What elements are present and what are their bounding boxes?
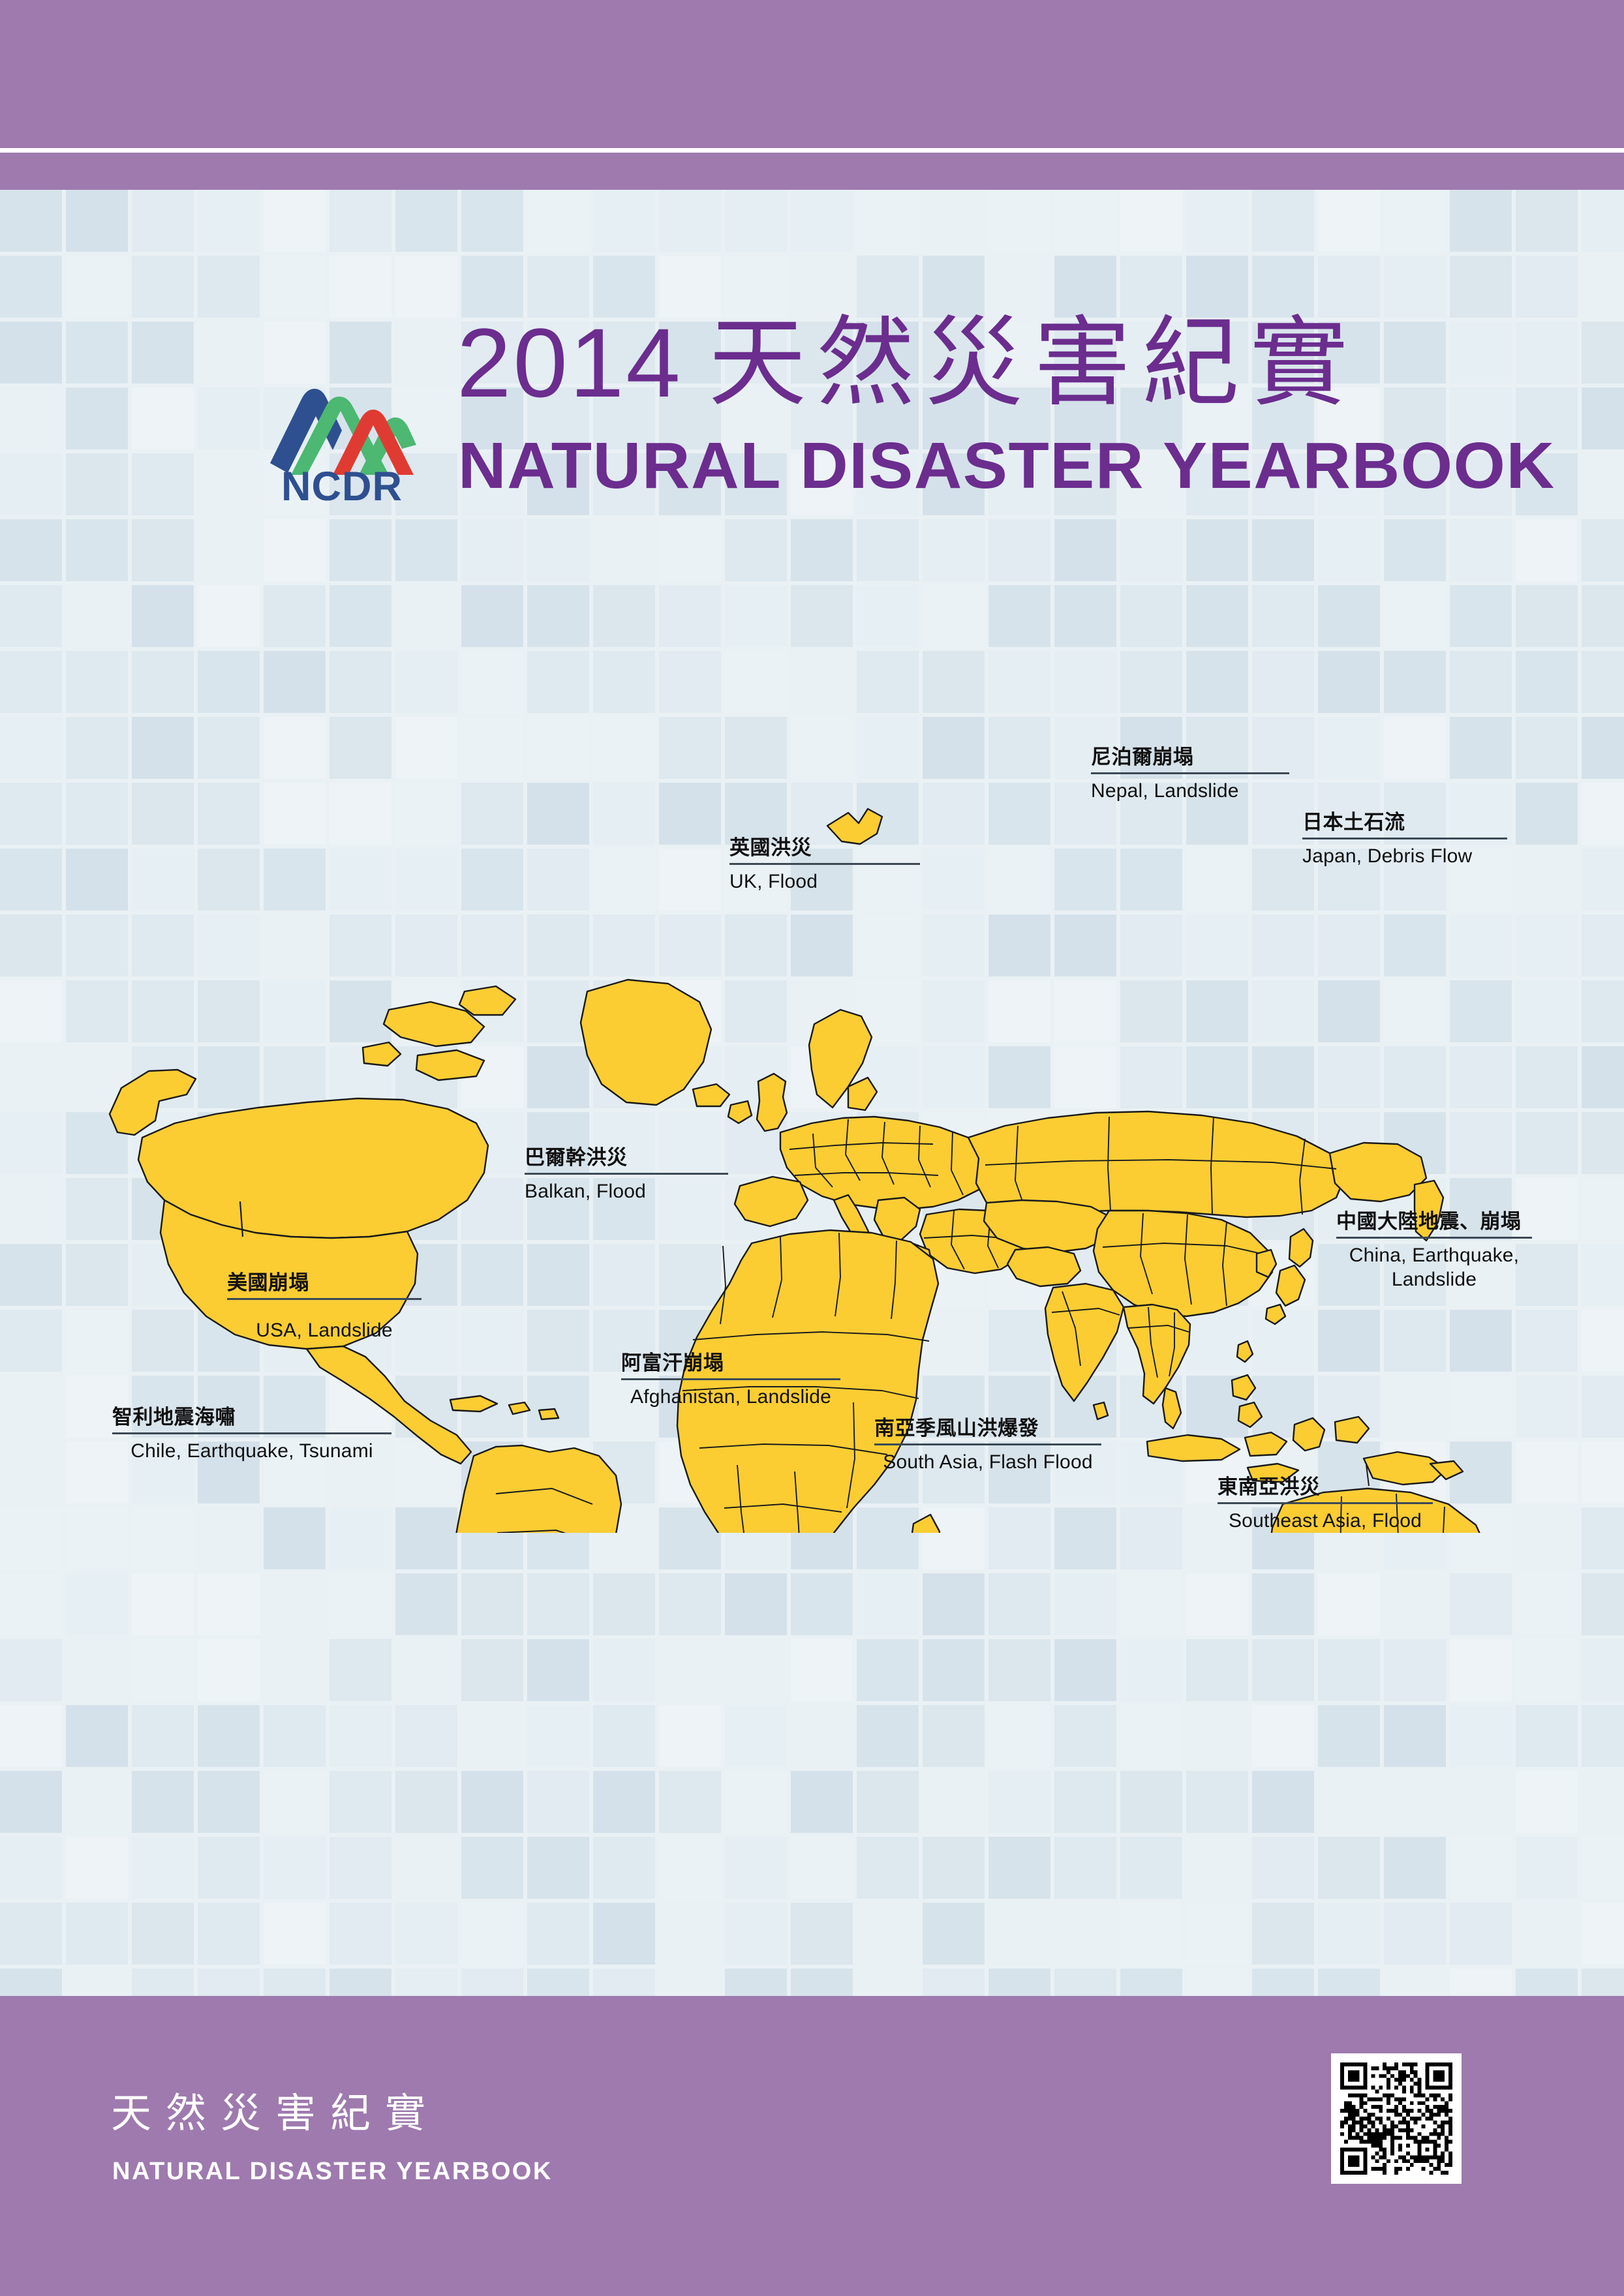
background-tile xyxy=(132,1903,194,1965)
background-tile xyxy=(593,1837,655,1899)
background-tile xyxy=(66,1573,128,1635)
background-tile xyxy=(1120,1903,1182,1965)
background-tile xyxy=(1120,1705,1182,1767)
background-tile xyxy=(264,585,326,647)
background-tile xyxy=(1582,1969,1624,1996)
background-tile xyxy=(1582,519,1624,581)
background-tile xyxy=(791,1969,853,1996)
background-tile xyxy=(593,1969,655,1996)
background-tile xyxy=(1582,453,1624,515)
background-tile xyxy=(923,1969,985,1996)
background-tile xyxy=(659,1903,721,1965)
background-tile xyxy=(527,1969,589,1996)
cover-title-english: NATURAL DISASTER YEARBOOK xyxy=(458,433,1555,498)
background-tile xyxy=(132,1969,194,1996)
background-tile xyxy=(0,1969,62,1996)
background-tile xyxy=(1120,1969,1182,1996)
callout-south-asia-cn: 南亞季風山洪爆發 xyxy=(874,1417,1101,1440)
callout-chile-cn: 智利地震海嘯 xyxy=(112,1406,391,1429)
background-tile xyxy=(198,387,260,449)
background-tile xyxy=(329,1771,391,1833)
background-tile xyxy=(1384,1705,1446,1767)
callout-south-asia-en: South Asia, Flash Flood xyxy=(874,1450,1101,1475)
background-tile xyxy=(988,519,1050,581)
background-tile xyxy=(1252,1573,1314,1635)
callout-china-en-line2: Landslide xyxy=(1336,1267,1532,1292)
background-tile xyxy=(66,1969,128,1996)
footer-title-english: NATURAL DISASTER YEARBOOK xyxy=(112,2159,553,2184)
background-tile xyxy=(1516,322,1578,384)
background-tile xyxy=(395,190,457,252)
background-tile xyxy=(395,1969,457,1996)
background-tile xyxy=(0,1837,62,1899)
background-tile xyxy=(1516,1837,1578,1899)
callout-chile-en: Chile, Earthquake, Tsunami xyxy=(112,1439,391,1464)
background-tile xyxy=(527,1573,589,1635)
background-tile xyxy=(461,1705,523,1767)
background-tile xyxy=(0,190,62,252)
background-tile xyxy=(1450,1837,1512,1899)
background-tile xyxy=(1318,1969,1380,1996)
background-tile xyxy=(329,519,391,581)
background-tile xyxy=(66,256,128,318)
background-tile xyxy=(1054,1771,1116,1833)
background-tile xyxy=(0,519,62,581)
background-tile xyxy=(1582,585,1624,647)
background-tile xyxy=(659,585,721,647)
background-tile xyxy=(1582,1639,1624,1701)
background-tile xyxy=(1186,1969,1248,1996)
background-tile xyxy=(791,1573,853,1635)
background-tile xyxy=(659,1771,721,1833)
background-tile xyxy=(264,519,326,581)
background-tile xyxy=(66,519,128,581)
background-tile xyxy=(1450,256,1512,318)
background-tile xyxy=(395,1771,457,1833)
background-tile xyxy=(593,1903,655,1965)
background-tile xyxy=(264,1837,326,1899)
background-tile xyxy=(1120,1837,1182,1899)
callout-uk-en: UK, Flood xyxy=(729,869,920,894)
background-tile xyxy=(1384,190,1446,252)
background-tile xyxy=(1318,1903,1380,1965)
callout-usa-rule xyxy=(227,1298,421,1300)
background-tile xyxy=(1384,1771,1446,1833)
background-tile xyxy=(1054,1903,1116,1965)
background-tile xyxy=(1516,519,1578,581)
callout-china-rule xyxy=(1336,1237,1532,1239)
callout-nepal-rule xyxy=(1091,772,1289,774)
background-tile xyxy=(1516,1771,1578,1833)
background-tile xyxy=(461,585,523,647)
background-tile xyxy=(1054,1837,1116,1899)
background-tile xyxy=(1450,1771,1512,1833)
background-tile xyxy=(66,322,128,384)
callout-afghanistan-en: Afghanistan, Landslide xyxy=(621,1385,840,1410)
background-tile xyxy=(527,1771,589,1833)
background-tile xyxy=(791,1705,853,1767)
callout-south-asia-rule xyxy=(874,1443,1101,1445)
background-tile xyxy=(461,519,523,581)
background-tile xyxy=(1582,387,1624,449)
callout-balkan-cn: 巴爾幹洪災 xyxy=(525,1146,728,1170)
background-tile xyxy=(659,519,721,581)
background-tile xyxy=(791,190,853,252)
background-tile xyxy=(0,1573,62,1635)
background-tile xyxy=(1582,322,1624,384)
callout-usa-en: USA, Landslide xyxy=(227,1318,421,1343)
background-tile xyxy=(923,519,985,581)
background-tile xyxy=(198,453,260,515)
background-tile xyxy=(659,1639,721,1701)
background-tile xyxy=(1252,190,1314,252)
background-tile xyxy=(1120,585,1182,647)
background-tile xyxy=(1120,1771,1182,1833)
background-tile xyxy=(461,1573,523,1635)
background-tile xyxy=(1450,1969,1512,1996)
background-tile xyxy=(132,322,194,384)
background-tile xyxy=(988,585,1050,647)
background-tile xyxy=(198,585,260,647)
background-tile xyxy=(132,585,194,647)
background-tile xyxy=(527,1903,589,1965)
background-tile xyxy=(198,1903,260,1965)
callout-japan: 日本土石流 Japan, Debris Flow xyxy=(1302,811,1507,868)
background-tile xyxy=(988,1903,1050,1965)
background-tile xyxy=(461,1837,523,1899)
background-tile xyxy=(0,1903,62,1965)
background-tile xyxy=(1252,1903,1314,1965)
background-tile xyxy=(461,1771,523,1833)
background-tile xyxy=(1054,1639,1116,1701)
background-tile xyxy=(1054,585,1116,647)
background-tile xyxy=(1384,1573,1446,1635)
cover-title-chinese: 2014天然災害紀實 xyxy=(457,313,1358,412)
background-tile xyxy=(1054,519,1116,581)
background-tile xyxy=(791,1771,853,1833)
background-tile xyxy=(593,585,655,647)
background-tile xyxy=(132,387,194,449)
background-tile xyxy=(1582,256,1624,318)
background-tile xyxy=(857,190,919,252)
background-tile xyxy=(527,585,589,647)
background-tile xyxy=(1186,519,1248,581)
background-tile xyxy=(329,1837,391,1899)
background-tile xyxy=(198,1573,260,1635)
callout-afghanistan-cn: 阿富汗崩塌 xyxy=(621,1352,840,1375)
callout-south-asia: 南亞季風山洪爆發 South Asia, Flash Flood xyxy=(874,1417,1101,1474)
background-tile xyxy=(132,1771,194,1833)
header-band-upper xyxy=(0,0,1624,148)
background-tile xyxy=(791,1837,853,1899)
background-tile xyxy=(1252,585,1314,647)
background-tile xyxy=(1582,1573,1624,1635)
background-tile xyxy=(1252,1771,1314,1833)
callout-nepal-cn: 尼泊爾崩塌 xyxy=(1091,746,1289,769)
background-tile xyxy=(725,585,787,647)
callout-usa: 美國崩塌 USA, Landslide xyxy=(227,1271,421,1342)
background-tile xyxy=(1318,519,1380,581)
background-tile xyxy=(1318,1837,1380,1899)
background-tile xyxy=(725,1969,787,1996)
background-tile xyxy=(0,1705,62,1767)
background-tile xyxy=(1318,1639,1380,1701)
background-tile xyxy=(1054,1573,1116,1635)
background-tile xyxy=(1384,519,1446,581)
background-tile xyxy=(66,1837,128,1899)
callout-uk-cn: 英國洪災 xyxy=(729,836,920,860)
background-tile xyxy=(725,1639,787,1701)
background-tile xyxy=(132,1705,194,1767)
background-tile xyxy=(1120,1639,1182,1701)
background-tile xyxy=(1252,1705,1314,1767)
background-tile xyxy=(329,190,391,252)
header-band-lower xyxy=(0,153,1624,190)
background-tile xyxy=(1450,585,1512,647)
background-tile xyxy=(1186,190,1248,252)
background-tile xyxy=(593,1771,655,1833)
background-tile xyxy=(461,190,523,252)
background-tile xyxy=(66,585,128,647)
background-tile xyxy=(1186,1705,1248,1767)
background-tile xyxy=(66,387,128,449)
background-tile xyxy=(264,1705,326,1767)
background-tile xyxy=(395,1903,457,1965)
background-tile xyxy=(1054,1705,1116,1767)
background-tile xyxy=(329,1639,391,1701)
background-tile xyxy=(659,1837,721,1899)
cover-title-cn-text: 天然災害紀實 xyxy=(709,308,1358,417)
callout-uk-rule xyxy=(729,863,920,865)
background-tile xyxy=(1582,1837,1624,1899)
background-tile xyxy=(329,1705,391,1767)
background-tile xyxy=(725,1771,787,1833)
background-tile xyxy=(659,1969,721,1996)
background-tile xyxy=(923,1705,985,1767)
background-tile xyxy=(988,1969,1050,1996)
background-tile xyxy=(198,1837,260,1899)
background-tile xyxy=(329,1573,391,1635)
callout-southeast-asia-cn: 東南亞洪災 xyxy=(1218,1475,1433,1499)
background-tile xyxy=(395,1837,457,1899)
callout-nepal: 尼泊爾崩塌 Nepal, Landslide xyxy=(1091,746,1289,803)
background-tile xyxy=(461,1969,523,1996)
background-tile xyxy=(66,190,128,252)
callout-japan-en: Japan, Debris Flow xyxy=(1302,844,1507,869)
background-tile xyxy=(1054,190,1116,252)
callout-usa-cn: 美國崩塌 xyxy=(227,1271,421,1295)
background-tile xyxy=(66,1705,128,1767)
background-tile xyxy=(1582,1705,1624,1767)
callout-balkan-en: Balkan, Flood xyxy=(525,1179,728,1204)
background-tile xyxy=(1516,1639,1578,1701)
background-tile xyxy=(791,1903,853,1965)
background-tile xyxy=(988,1573,1050,1635)
background-tile xyxy=(725,1705,787,1767)
background-tile xyxy=(857,1705,919,1767)
background-tile xyxy=(264,1639,326,1701)
background-tile xyxy=(1384,1969,1446,1996)
background-tile xyxy=(1450,519,1512,581)
background-tile xyxy=(923,1771,985,1833)
background-tile xyxy=(857,1837,919,1899)
cover-page: NCDR 2014天然災害紀實 NATURAL DISASTER YEARBOO… xyxy=(0,0,1624,2296)
background-tile xyxy=(1252,1969,1314,1996)
background-tile xyxy=(1450,190,1512,252)
background-tile xyxy=(923,1639,985,1701)
ncdr-logo: NCDR xyxy=(261,365,424,506)
background-tile xyxy=(527,1639,589,1701)
footer-title-chinese: 天然災害紀實 xyxy=(111,2094,440,2134)
qr-code[interactable] xyxy=(1331,2053,1462,2184)
background-tile xyxy=(132,453,194,515)
background-tile xyxy=(0,453,62,515)
background-tile xyxy=(791,1639,853,1701)
background-tile xyxy=(725,519,787,581)
background-tile xyxy=(264,190,326,252)
background-tile xyxy=(1186,1903,1248,1965)
background-tile xyxy=(923,190,985,252)
background-tile xyxy=(659,1573,721,1635)
background-tile xyxy=(923,585,985,647)
background-tile xyxy=(1186,1771,1248,1833)
background-tile xyxy=(1186,585,1248,647)
background-tile xyxy=(1582,190,1624,252)
callout-southeast-asia-en: Southeast Asia, Flood xyxy=(1218,1509,1433,1533)
background-tile xyxy=(1252,519,1314,581)
background-tile xyxy=(988,190,1050,252)
background-tile xyxy=(857,519,919,581)
background-tile xyxy=(593,190,655,252)
background-tile xyxy=(132,519,194,581)
background-tile xyxy=(1582,1903,1624,1965)
background-tile xyxy=(1384,1837,1446,1899)
background-tile xyxy=(1516,190,1578,252)
background-tile xyxy=(923,1903,985,1965)
callout-afghanistan-rule xyxy=(621,1378,840,1380)
background-tile xyxy=(725,1903,787,1965)
background-tile xyxy=(1450,1903,1512,1965)
background-tile xyxy=(198,190,260,252)
background-tile xyxy=(395,1573,457,1635)
background-tile xyxy=(198,1969,260,1996)
background-tile xyxy=(1582,1771,1624,1833)
background-tile xyxy=(0,387,62,449)
background-tile xyxy=(198,1639,260,1701)
callout-chile: 智利地震海嘯 Chile, Earthquake, Tsunami xyxy=(112,1406,391,1463)
background-tile xyxy=(1516,256,1578,318)
background-tile xyxy=(527,1837,589,1899)
background-tile xyxy=(1516,1903,1578,1965)
background-tile xyxy=(527,190,589,252)
background-tile xyxy=(0,256,62,318)
background-tile xyxy=(264,1903,326,1965)
background-tile xyxy=(857,1969,919,1996)
background-tile xyxy=(857,1771,919,1833)
background-tile xyxy=(857,1903,919,1965)
background-tile xyxy=(725,1573,787,1635)
header-band-divider xyxy=(0,148,1624,153)
background-tile xyxy=(395,1639,457,1701)
background-tile xyxy=(198,256,260,318)
background-tile xyxy=(264,256,326,318)
background-tile xyxy=(66,1771,128,1833)
background-tile xyxy=(1318,585,1380,647)
background-tile xyxy=(1054,1969,1116,1996)
background-tile xyxy=(1516,1705,1578,1767)
callout-japan-cn: 日本土石流 xyxy=(1302,811,1507,834)
background-tile xyxy=(395,585,457,647)
background-tile xyxy=(132,1837,194,1899)
background-tile xyxy=(1186,1639,1248,1701)
background-tile xyxy=(1252,1639,1314,1701)
background-tile xyxy=(1516,585,1578,647)
background-tile xyxy=(264,1573,326,1635)
background-tile xyxy=(1384,1639,1446,1701)
background-tile xyxy=(593,519,655,581)
background-tile xyxy=(1318,190,1380,252)
background-tile xyxy=(1384,585,1446,647)
background-tile xyxy=(1516,1573,1578,1635)
background-tile xyxy=(1120,1573,1182,1635)
background-tile xyxy=(132,1639,194,1701)
background-tile xyxy=(395,1705,457,1767)
background-tile xyxy=(1186,1573,1248,1635)
background-tile xyxy=(264,1771,326,1833)
background-tile xyxy=(1450,1705,1512,1767)
background-tile xyxy=(1318,1705,1380,1767)
background-tile xyxy=(857,1573,919,1635)
background-tile xyxy=(198,1771,260,1833)
background-tile xyxy=(659,190,721,252)
callout-japan-rule xyxy=(1302,838,1507,839)
background-tile xyxy=(1516,1969,1578,1996)
background-tile xyxy=(198,322,260,384)
background-tile xyxy=(395,256,457,318)
background-tile xyxy=(0,322,62,384)
background-tile xyxy=(198,519,260,581)
callout-china-en-line1: China, Earthquake, xyxy=(1336,1243,1532,1268)
background-tile xyxy=(593,1639,655,1701)
background-tile xyxy=(1384,256,1446,318)
background-tile xyxy=(1318,1771,1380,1833)
background-tile xyxy=(1384,1903,1446,1965)
background-tile xyxy=(66,453,128,515)
background-tile xyxy=(0,1771,62,1833)
background-tile xyxy=(593,1573,655,1635)
background-tile xyxy=(988,1639,1050,1701)
background-tile xyxy=(1186,1837,1248,1899)
background-tile xyxy=(593,1705,655,1767)
background-tile xyxy=(461,1639,523,1701)
background-tile xyxy=(527,519,589,581)
background-tile xyxy=(66,1639,128,1701)
background-tile xyxy=(988,1837,1050,1899)
background-tile xyxy=(791,519,853,581)
background-tile xyxy=(725,1837,787,1899)
background-tile xyxy=(791,585,853,647)
callout-chile-rule xyxy=(112,1432,391,1434)
callout-china-cn: 中國大陸地震、崩塌 xyxy=(1336,1210,1532,1233)
background-tile xyxy=(132,1573,194,1635)
background-tile xyxy=(329,1903,391,1965)
background-tile xyxy=(329,585,391,647)
background-tile xyxy=(857,1639,919,1701)
background-tile xyxy=(395,519,457,581)
background-tile xyxy=(988,1771,1050,1833)
callout-uk: 英國洪災 UK, Flood xyxy=(729,836,920,894)
background-tile xyxy=(198,1705,260,1767)
